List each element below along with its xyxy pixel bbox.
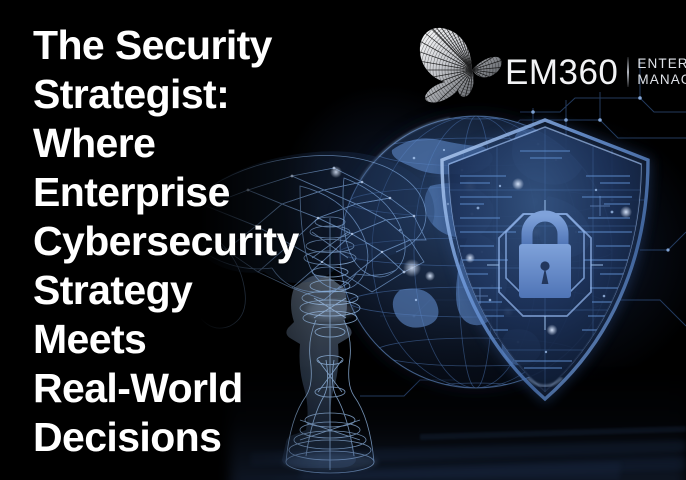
headline-line-5: Cybersecurity [33, 217, 363, 266]
headline-line-9: Decisions [33, 413, 363, 462]
logo-text-group: EM360 ENTERPRISE MANAGEMENT 360 [505, 55, 686, 104]
logo-tagline-line-1: ENTERPRISE [637, 56, 686, 72]
em360-logo[interactable]: EM360 ENTERPRISE MANAGEMENT 360 [417, 26, 686, 104]
headline-line-3: Where [33, 119, 363, 168]
headline-line-1: The Security [33, 21, 363, 70]
headline-line-2: Strategist: [33, 70, 363, 119]
logo-tagline-line-2: MANAGEMENT 360 [637, 72, 686, 88]
page-title: The Security Strategist: Where Enterpris… [33, 21, 363, 462]
headline-line-7: Meets [33, 315, 363, 364]
logo-tagline: ENTERPRISE MANAGEMENT 360 [637, 56, 686, 89]
logo-divider [627, 57, 629, 87]
em360-fan-logo-icon [417, 26, 503, 104]
logo-wordmark: EM360 [505, 55, 618, 90]
banner-root: The Security Strategist: Where Enterpris… [0, 0, 686, 480]
headline-line-6: Strategy [33, 266, 363, 315]
headline-line-8: Real-World [33, 364, 363, 413]
headline-line-4: Enterprise [33, 168, 363, 217]
